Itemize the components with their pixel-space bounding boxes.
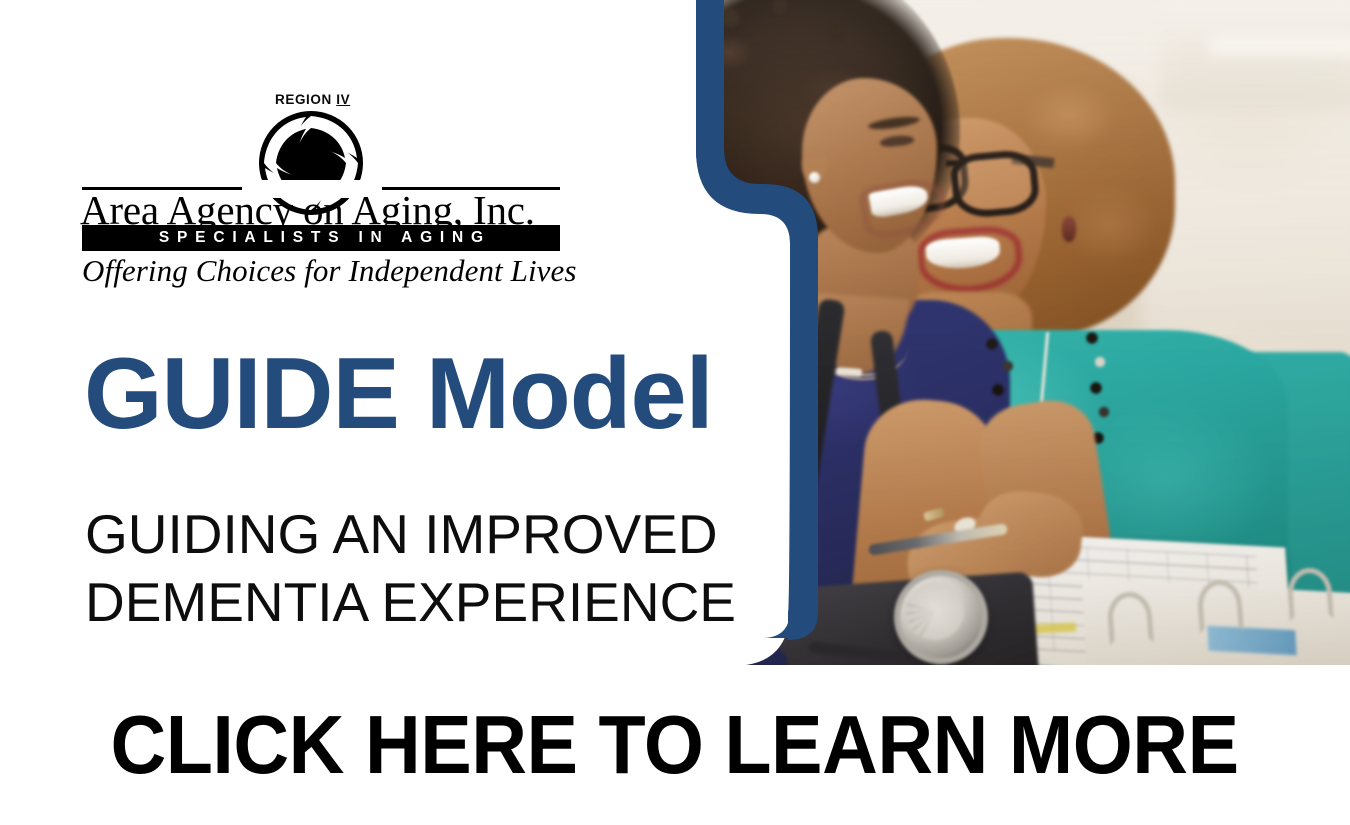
region-label: REGION IV [275,92,350,107]
guide-model-banner[interactable]: REGION IV [0,0,1350,825]
kitchen-upper-cabinet [1160,0,1350,110]
learn-more-cta[interactable]: CLICK HERE TO LEARN MORE [0,665,1350,825]
blood-pressure-gauge-dial [906,582,964,640]
page-title: GUIDE Model [84,344,713,445]
region-numeral: IV [336,92,350,107]
left-content-column: REGION IV [0,0,690,665]
page-subtitle-line-1: GUIDING AN IMPROVED [85,500,736,568]
caregiver-bar-pendant [836,367,862,377]
region-label-text: REGION [275,92,336,107]
page-subtitle: GUIDING AN IMPROVED DEMENTIA EXPERIENCE [85,500,736,636]
older-woman-earring [1062,216,1076,242]
kitchen-hood [1210,36,1350,54]
caregiver-earring [809,172,820,183]
learn-more-cta-label[interactable]: CLICK HERE TO LEARN MORE [111,697,1239,793]
page-subtitle-line-2: DEMENTIA EXPERIENCE [85,568,736,636]
logo-specialists-bar: SPECIALISTS IN AGING [82,225,560,251]
logo-tagline: Offering Choices for Independent Lives [82,253,560,289]
hero-photo [690,0,1350,665]
photo-canvas [690,0,1350,665]
